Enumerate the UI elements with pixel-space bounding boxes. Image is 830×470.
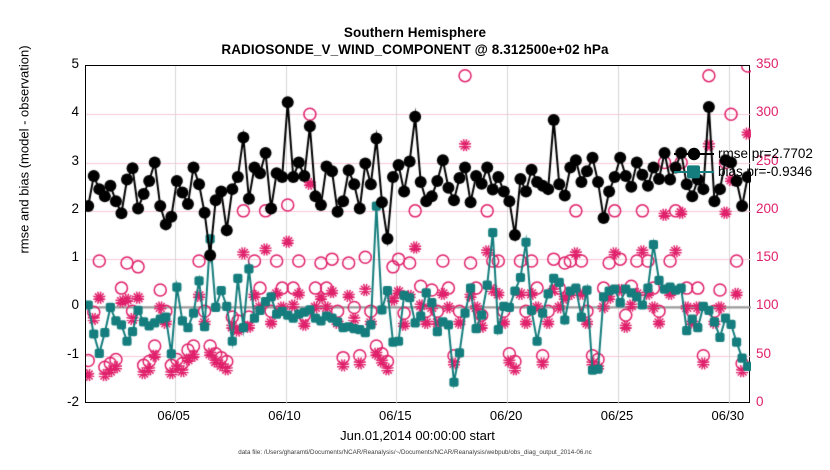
y-tick-label-left: 2: [55, 201, 79, 216]
x-tick-label: 06/05: [144, 408, 204, 423]
plot-area: rmse pr=2.7702 bias pr=-0.9346: [85, 65, 750, 403]
y-tick-label-left: 5: [55, 56, 79, 71]
y-tick-label-right: 100: [756, 297, 790, 312]
plot-canvas: [86, 66, 751, 404]
figure-title-line1: Southern Hemisphere: [0, 24, 830, 41]
y-tick-label-left: -2: [55, 394, 79, 409]
figure-title: Southern Hemisphere RADIOSONDE_V_WIND_CO…: [0, 24, 830, 59]
y-tick-label-left: -1: [55, 346, 79, 361]
x-axis-ticks: 06/0506/1006/1506/2006/2506/30: [85, 408, 750, 426]
legend: rmse pr=2.7702 bias pr=-0.9346: [672, 145, 830, 182]
legend-sample-bias: [672, 163, 716, 181]
y-tick-label-right: 0: [756, 394, 790, 409]
y-axis-left-ticks: -2-1012345: [49, 65, 79, 403]
y-tick-label-right: 200: [756, 201, 790, 216]
y-tick-label-right: 300: [756, 104, 790, 119]
figure-title-line2: RADIOSONDE_V_WIND_COMPONENT @ 8.312500e+…: [0, 41, 830, 59]
legend-label-rmse: rmse pr=2.7702: [718, 145, 813, 163]
y-tick-label-right: 50: [756, 346, 790, 361]
x-tick-label: 06/15: [365, 408, 425, 423]
legend-sample-rmse: [672, 145, 716, 163]
x-tick-label: 06/20: [476, 408, 536, 423]
x-tick-label: 06/10: [255, 408, 315, 423]
x-tick-label: 06/30: [698, 408, 758, 423]
figure-root: Southern Hemisphere RADIOSONDE_V_WIND_CO…: [0, 0, 830, 470]
y-axis-left-label: rmse and bias (model - observation): [17, 0, 32, 380]
legend-row-rmse: rmse pr=2.7702: [672, 145, 830, 163]
legend-row-bias: bias pr=-0.9346: [672, 163, 830, 181]
legend-marker-filled-circle-icon: [672, 145, 716, 163]
y-tick-label-right: 350: [756, 56, 790, 71]
data-file-caption: data file: /Users/gharamti/Documents/NCA…: [0, 449, 830, 456]
y-tick-label-left: 4: [55, 104, 79, 119]
y-axis-right-ticks: 050100150200250300350: [756, 65, 796, 403]
legend-label-bias: bias pr=-0.9346: [718, 163, 812, 181]
x-tick-label: 06/25: [587, 408, 647, 423]
legend-marker-filled-square-icon: [672, 163, 716, 181]
y-tick-label-left: 3: [55, 153, 79, 168]
y-tick-label-left: 1: [55, 249, 79, 264]
y-tick-label-right: 150: [756, 249, 790, 264]
x-axis-label: Jun.01,2014 00:00:00 start: [85, 428, 750, 443]
y-tick-label-left: 0: [55, 297, 79, 312]
